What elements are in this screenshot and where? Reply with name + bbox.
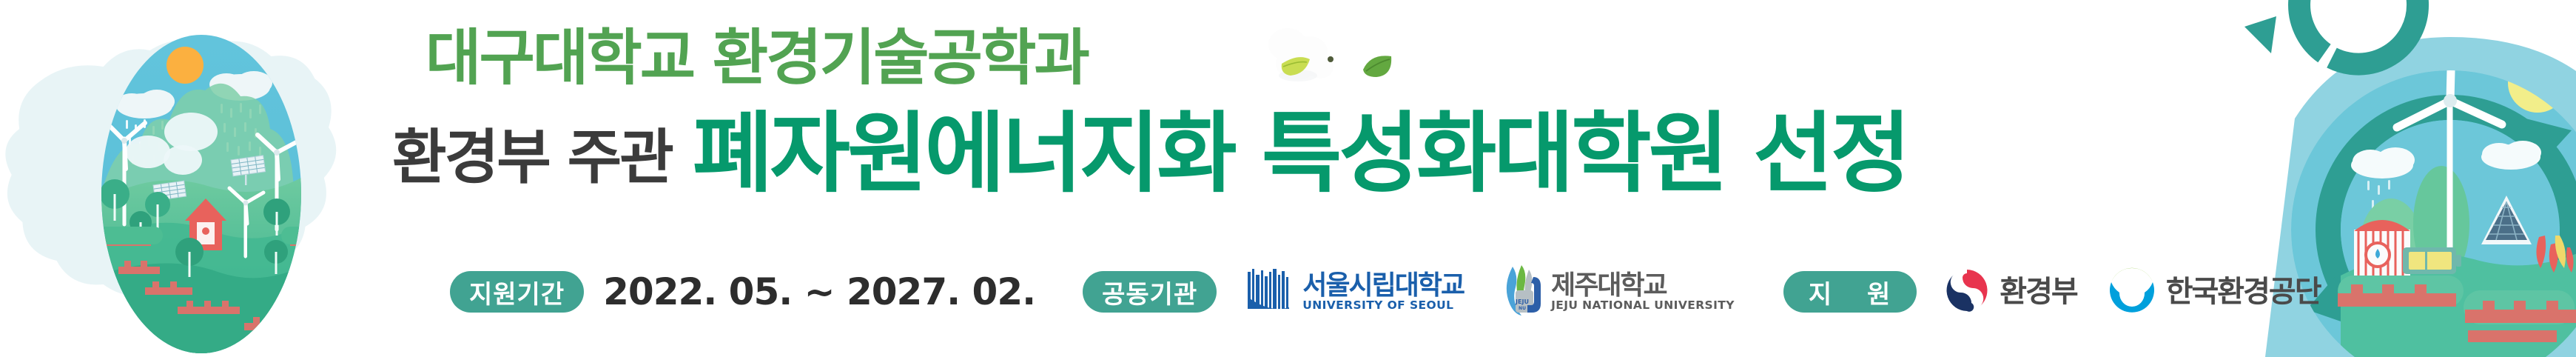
- support-badge-wrapper: 지 원: [1783, 271, 1917, 313]
- korea-government-taegeuk-logo: [1943, 267, 1991, 317]
- battery-icon: [2403, 247, 2461, 274]
- jeju-flame-logo: JEJU NU: [1499, 264, 1545, 320]
- promo-banner: 대구대학교 환경기술공학과: [0, 0, 2576, 357]
- keco-name-ko: 한국환경공단: [2166, 276, 2321, 307]
- main-title: 폐자원에너지화 특성화대학원 선정: [693, 110, 1909, 197]
- uos-barcode-logo: [1246, 267, 1295, 316]
- support-badge: 지 원: [1783, 271, 1917, 313]
- headline-block: 대구대학교 환경기술공학과: [426, 13, 2216, 213]
- jeju-name-ko: 제주대학교: [1551, 272, 1735, 300]
- factory-icon: [2354, 220, 2410, 276]
- recycle-arrow-top: [2244, 0, 2418, 64]
- partner-logo-jeju-national-university: JEJU NU 제주대학교 JEJU NATIONAL UNIVERSITY: [1499, 264, 1735, 320]
- sponsor-logo-korea-environment-corporation: 한국환경공단: [2107, 265, 2321, 318]
- uos-name-block: 서울시립대학교 UNIVERSITY OF SEOUL: [1302, 272, 1464, 313]
- support-period-badge: 지원기간: [450, 271, 584, 313]
- keco-ring-logo: [2107, 265, 2157, 318]
- moe-name-ko: 환경부: [2000, 276, 2076, 307]
- sponsor-logo-ministry-of-environment: 환경부: [1943, 267, 2076, 317]
- joint-org-badge-wrapper: 공동기관: [1083, 271, 1217, 313]
- cloud-leaf-decoration: [1258, 18, 1354, 92]
- ministry-prefix: 환경부 주관: [392, 128, 672, 187]
- svg-text:NU: NU: [1519, 306, 1526, 311]
- jeju-name-block: 제주대학교 JEJU NATIONAL UNIVERSITY: [1551, 272, 1735, 313]
- footer-row: 지원기간 2022. 05. ~ 2027. 02. 공동기관: [450, 261, 2321, 323]
- main-title-line: 환경부 주관 폐자원에너지화 특성화대학원 선정: [392, 104, 1908, 191]
- uos-name-en: UNIVERSITY OF SEOUL: [1302, 299, 1464, 312]
- joint-org-badge: 공동기관: [1083, 271, 1217, 313]
- cloud-right: [2481, 141, 2541, 170]
- svg-text:JEJU: JEJU: [1515, 298, 1529, 305]
- department-line: 대구대학교 환경기술공학과: [426, 28, 1088, 89]
- support-period-value: 2022. 05. ~ 2027. 02.: [603, 270, 1035, 313]
- uos-name-ko: 서울시립대학교: [1302, 272, 1464, 300]
- cloud-left: [2351, 147, 2415, 178]
- jeju-name-en: JEJU NATIONAL UNIVERSITY: [1551, 299, 1735, 312]
- sun-icon: [167, 47, 204, 84]
- leaf-icon: [1360, 53, 1394, 79]
- eco-village-circle-illustration: [0, 0, 414, 357]
- partner-logo-university-of-seoul: 서울시립대학교 UNIVERSITY OF SEOUL: [1246, 267, 1464, 316]
